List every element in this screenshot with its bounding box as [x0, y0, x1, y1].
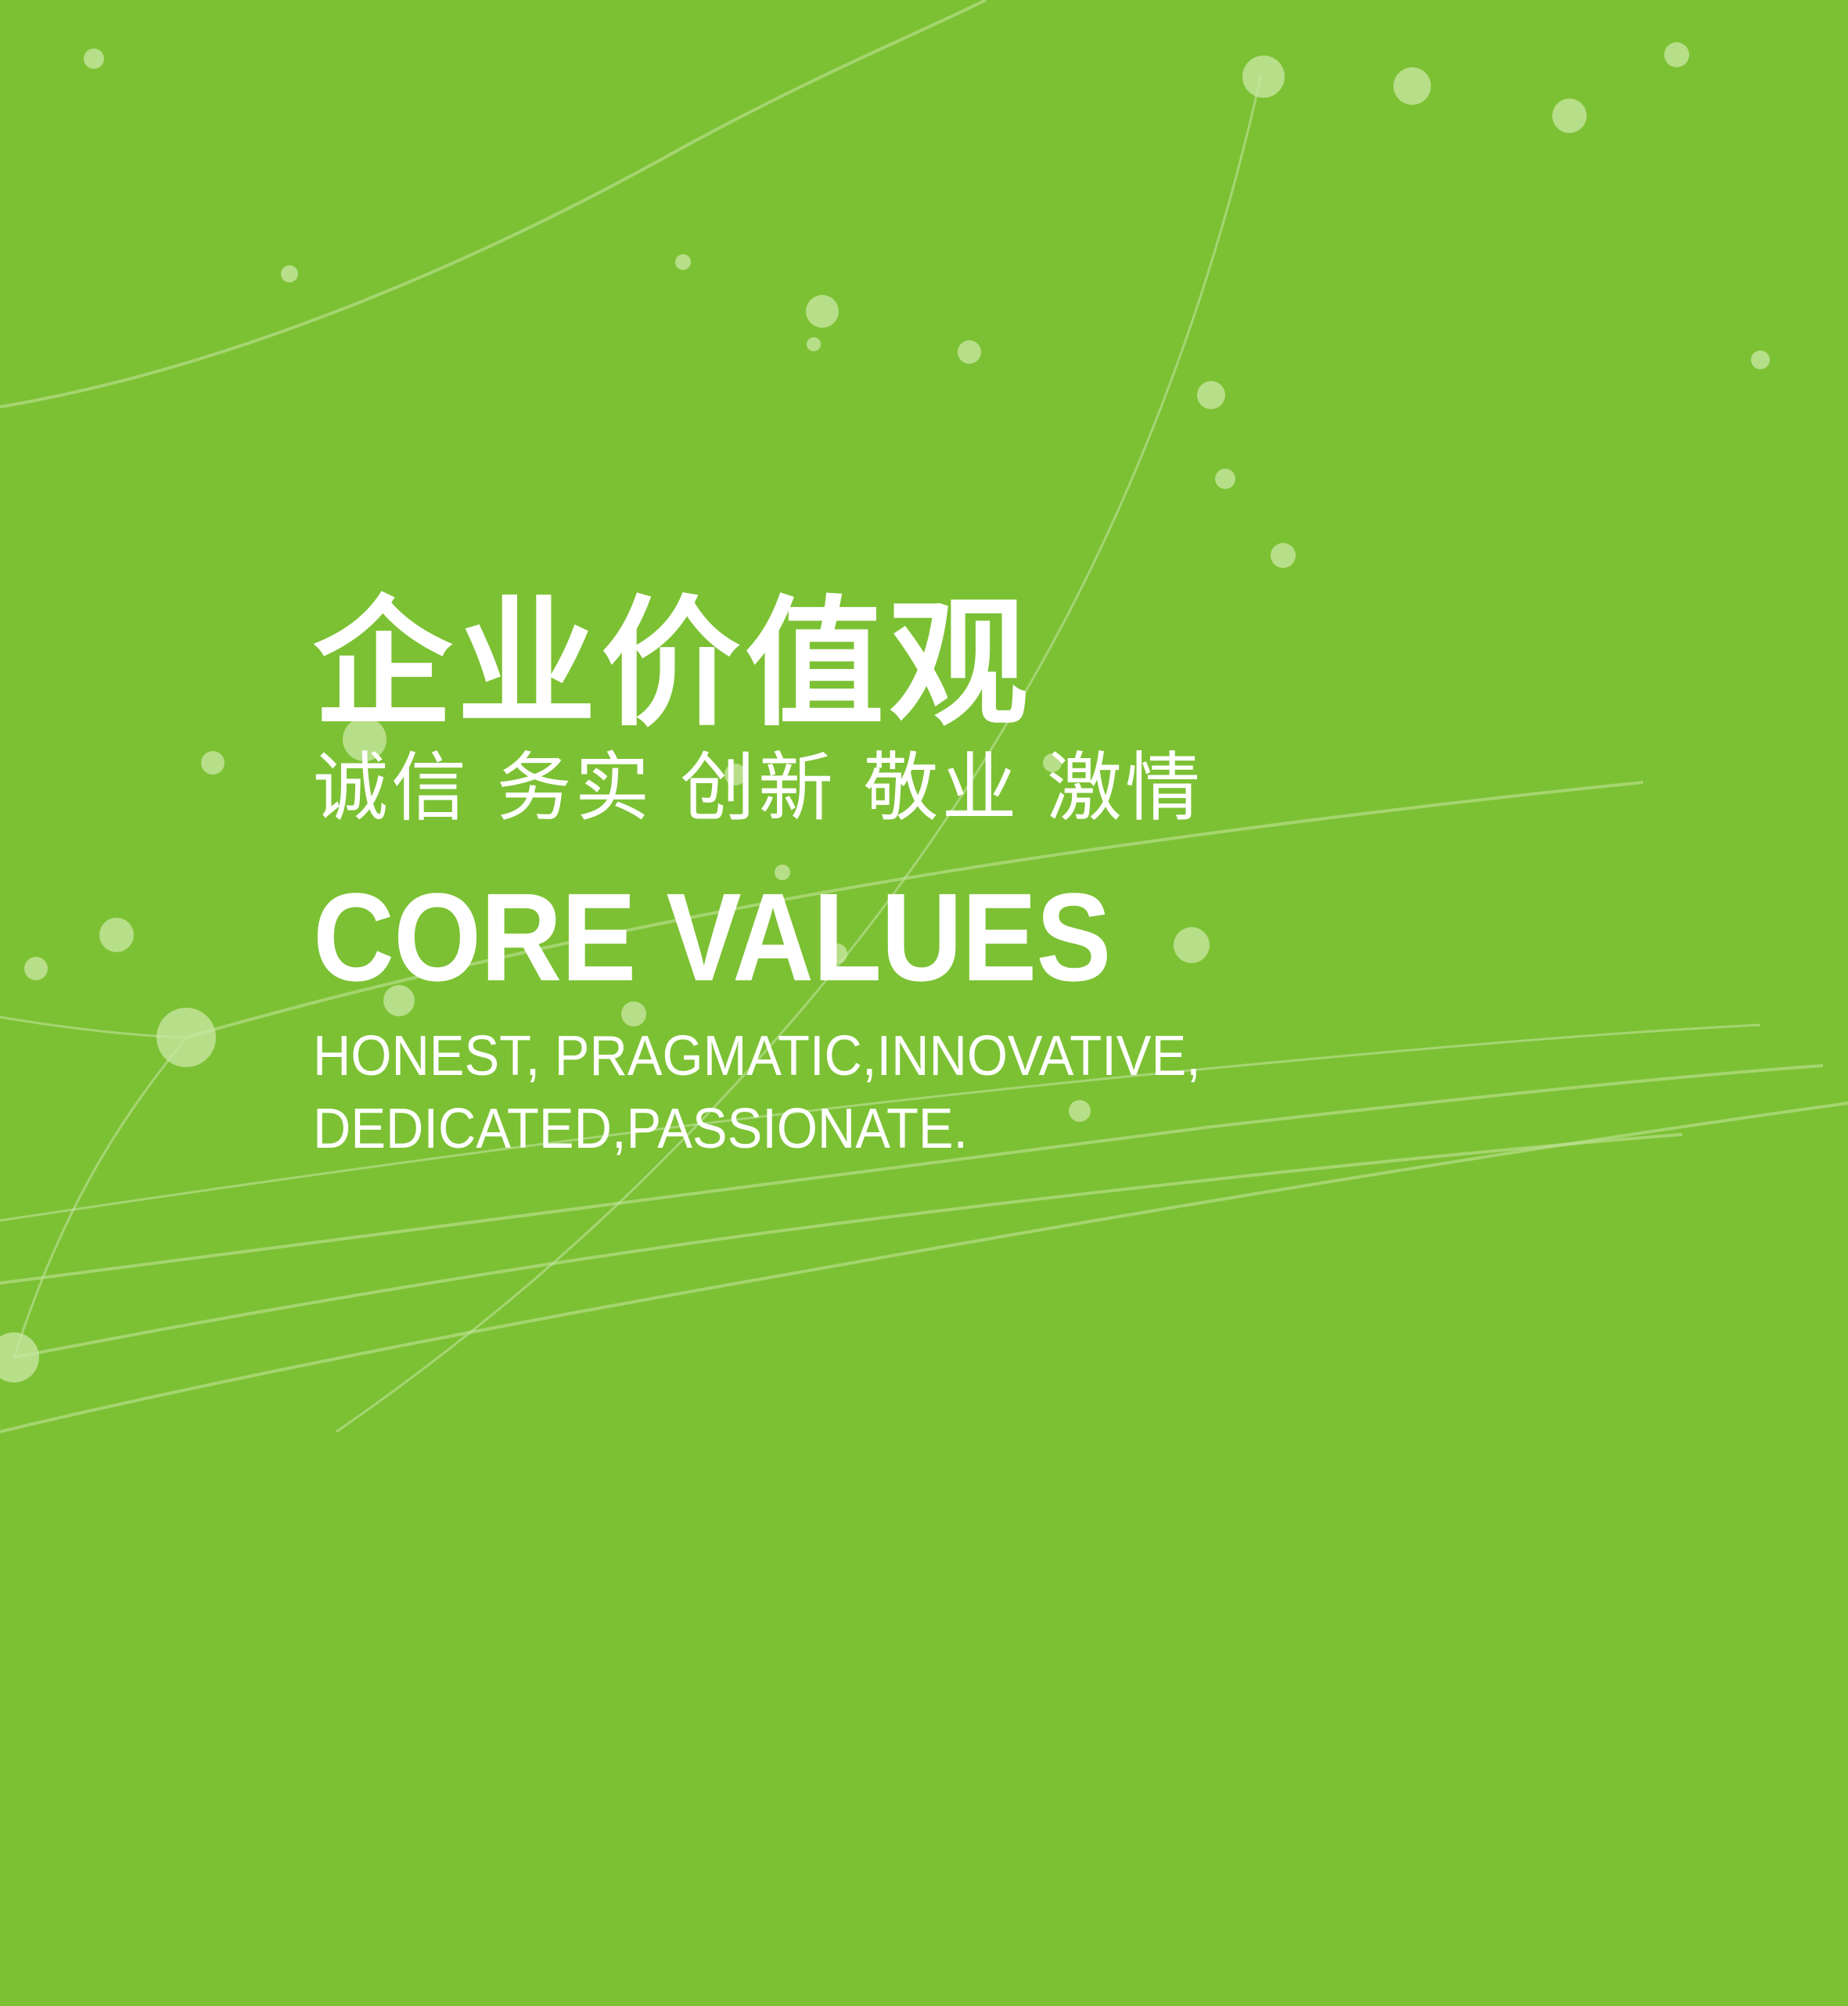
- network-node-dot: [24, 957, 48, 980]
- network-node-dot: [958, 340, 981, 364]
- network-node-dot: [675, 254, 691, 270]
- network-node-dot: [99, 918, 134, 952]
- network-node-dot: [1197, 381, 1225, 409]
- network-node-dot: [807, 337, 821, 351]
- network-node-dot: [1271, 543, 1296, 568]
- network-node-dot: [0, 1332, 39, 1382]
- network-node-dot: [84, 49, 104, 69]
- network-node-dot: [806, 295, 839, 328]
- chinese-title: 企业价值观: [313, 595, 1721, 734]
- network-node-dot: [201, 751, 225, 775]
- network-node-dot: [1393, 67, 1431, 105]
- network-node-dot: [1751, 351, 1770, 369]
- network-node-dot: [1215, 469, 1235, 489]
- core-values-poster: .netline { fill: none; stroke: #c6e5a0; …: [0, 0, 1848, 2006]
- headline-block: 企业价值观 诚信 务实 创新 敬业 激情 CORE VALUES HONEST,…: [313, 595, 1721, 1165]
- english-subtitle-line-2: DEDICATED,PASSIONATE.: [313, 1093, 1623, 1165]
- english-subtitle-line-1: HONEST, PRAGMATIC,INNOVATIVE,: [313, 1020, 1623, 1092]
- network-curve: [14, 1037, 186, 1357]
- network-curve: [0, 1017, 186, 1037]
- chinese-subtitle: 诚信 务实 创新 敬业 激情: [313, 745, 1721, 831]
- network-node-dot: [1664, 42, 1689, 67]
- network-curve: [14, 1134, 1682, 1357]
- network-node-dot: [1552, 99, 1587, 133]
- english-subtitle: HONEST, PRAGMATIC,INNOVATIVE, DEDICATED,…: [313, 1020, 1623, 1164]
- network-node-dot: [281, 265, 298, 282]
- network-node-dot: [156, 1008, 216, 1067]
- network-node-dot: [1242, 56, 1285, 98]
- network-curve: [0, 0, 986, 407]
- english-title: CORE VALUES: [313, 875, 1580, 1000]
